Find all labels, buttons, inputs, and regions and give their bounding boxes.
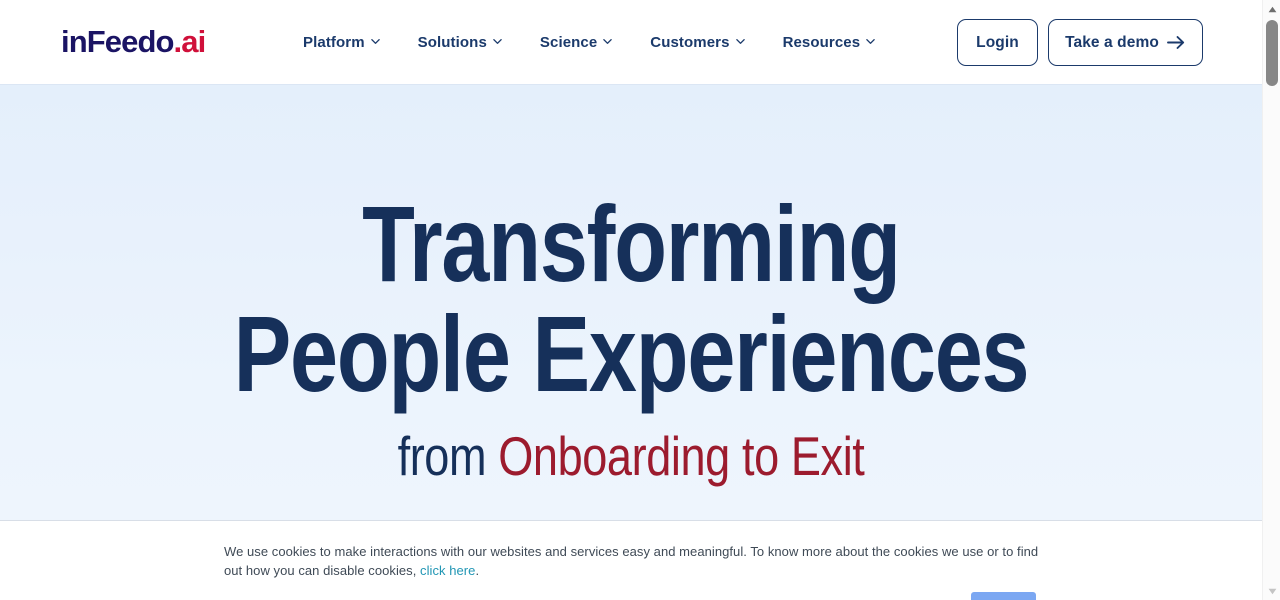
brand-logo[interactable]: inFeedo.ai <box>61 26 205 57</box>
main-navigation: Platform Solutions Science Customers <box>303 30 875 56</box>
nav-item-science[interactable]: Science <box>540 30 612 56</box>
hero-subheadline-accent: Onboarding to Exit <box>498 425 864 487</box>
hero-headline-line-2: People Experiences <box>126 301 1136 407</box>
nav-item-science-label: Science <box>540 30 597 56</box>
hero-subheadline-plain: from <box>398 425 499 487</box>
nav-item-solutions[interactable]: Solutions <box>418 30 502 56</box>
chevron-down-icon <box>603 37 612 46</box>
site-header: inFeedo.ai Platform Solutions Science <box>0 0 1262 85</box>
cookie-text-after: . <box>475 563 479 578</box>
arrow-right-icon <box>1167 35 1186 50</box>
hero-content: Transforming People Experiences from Onb… <box>0 85 1262 484</box>
chevron-down-icon <box>493 37 502 46</box>
scrollbar-thumb[interactable] <box>1266 20 1278 86</box>
scrollbar-up-arrow-button[interactable] <box>1263 0 1280 18</box>
brand-logo-suffix: .ai <box>174 24 206 59</box>
cookie-consent-text: We use cookies to make interactions with… <box>224 543 1042 580</box>
nav-item-customers-label: Customers <box>650 30 729 56</box>
cookie-text-before: We use cookies to make interactions with… <box>224 544 1038 578</box>
header-actions: Login Take a demo <box>957 19 1203 66</box>
take-a-demo-button[interactable]: Take a demo <box>1048 19 1203 66</box>
cookie-accept-button[interactable]: Accept <box>971 592 1036 600</box>
nav-item-resources[interactable]: Resources <box>783 30 876 56</box>
login-button[interactable]: Login <box>957 19 1038 66</box>
cookie-policy-link[interactable]: click here <box>420 563 475 578</box>
chevron-down-icon <box>866 37 875 46</box>
chevron-down-icon <box>736 37 745 46</box>
triangle-down-icon <box>1268 588 1277 595</box>
nav-item-platform[interactable]: Platform <box>303 30 380 56</box>
nav-item-customers[interactable]: Customers <box>650 30 744 56</box>
page-scrollbar[interactable] <box>1262 0 1280 600</box>
nav-item-resources-label: Resources <box>783 30 861 56</box>
scrollbar-down-arrow-button[interactable] <box>1263 582 1280 600</box>
nav-item-platform-label: Platform <box>303 30 365 56</box>
hero-section: Transforming People Experiences from Onb… <box>0 85 1262 520</box>
brand-logo-main: inFeedo <box>61 24 174 59</box>
page-viewport: inFeedo.ai Platform Solutions Science <box>0 0 1262 600</box>
hero-headline: Transforming People Experiences <box>126 191 1136 407</box>
login-button-label: Login <box>976 34 1019 52</box>
triangle-up-icon <box>1268 6 1277 13</box>
nav-item-solutions-label: Solutions <box>418 30 487 56</box>
chevron-down-icon <box>371 37 380 46</box>
hero-headline-line-1: Transforming <box>126 191 1136 297</box>
cookie-consent-banner: We use cookies to make interactions with… <box>0 520 1262 600</box>
hero-subheadline: from Onboarding to Exit <box>114 429 1149 484</box>
take-a-demo-button-label: Take a demo <box>1065 34 1159 52</box>
